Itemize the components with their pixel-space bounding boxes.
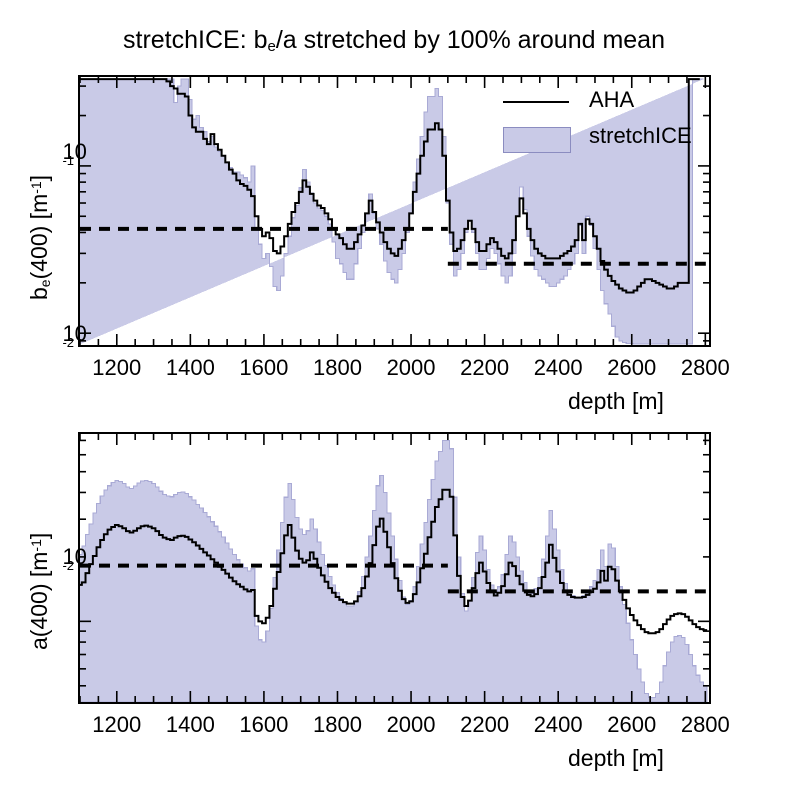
panel-absorption — [78, 432, 711, 704]
y-tick-top-2: 10-2 — [22, 334, 74, 360]
figure-title-prefix: stretchICE: b — [123, 26, 268, 54]
x-axis-label-top: depth [m] — [568, 388, 664, 415]
x-tick-1400: 1400 — [166, 355, 215, 381]
x-tick-2600: 2600 — [607, 712, 656, 738]
x-tick-1800: 1800 — [313, 355, 362, 381]
x-tick-1600: 1600 — [239, 712, 288, 738]
y-axis-label-top: be(400) [m-1] — [26, 175, 53, 300]
plot-frame-bottom — [78, 432, 711, 704]
x-tick-2200: 2200 — [460, 355, 509, 381]
plot-canvas-bottom — [80, 434, 709, 702]
x-tick-labels-bottom: 120014001600180020002200240026002800 — [78, 712, 711, 742]
x-tick-2400: 2400 — [534, 712, 583, 738]
x-tick-1200: 1200 — [92, 712, 141, 738]
x-tick-2000: 2000 — [387, 355, 436, 381]
x-tick-1600: 1600 — [239, 355, 288, 381]
x-tick-labels-top: 120014001600180020002200240026002800 — [78, 355, 711, 385]
figure-title-suffix: /a stretched by 100% around mean — [276, 26, 665, 54]
x-tick-1200: 1200 — [92, 355, 141, 381]
figure-title-subscript: e — [268, 38, 276, 55]
x-tick-2200: 2200 — [460, 712, 509, 738]
legend-label-stretchice: stretchICE — [589, 123, 692, 149]
x-tick-2400: 2400 — [534, 355, 583, 381]
legend-line-key-icon — [503, 101, 569, 103]
legend-box-key-icon — [503, 127, 571, 153]
x-tick-2800: 2800 — [681, 355, 730, 381]
x-axis-label-bottom: depth [m] — [568, 745, 664, 772]
x-tick-2000: 2000 — [387, 712, 436, 738]
legend-label-aha: AHA — [589, 87, 634, 113]
x-tick-1400: 1400 — [166, 712, 215, 738]
x-tick-2600: 2600 — [607, 355, 656, 381]
plot-canvas-top — [80, 77, 709, 345]
x-tick-1800: 1800 — [313, 712, 362, 738]
figure-title: stretchICE: be/a stretched by 100% aroun… — [0, 26, 788, 55]
plot-frame-top — [78, 75, 711, 347]
x-tick-2800: 2800 — [681, 712, 730, 738]
panel-scattering: AHA stretchICE — [78, 75, 711, 347]
y-axis-label-bottom: a(400) [m-1] — [26, 533, 53, 650]
